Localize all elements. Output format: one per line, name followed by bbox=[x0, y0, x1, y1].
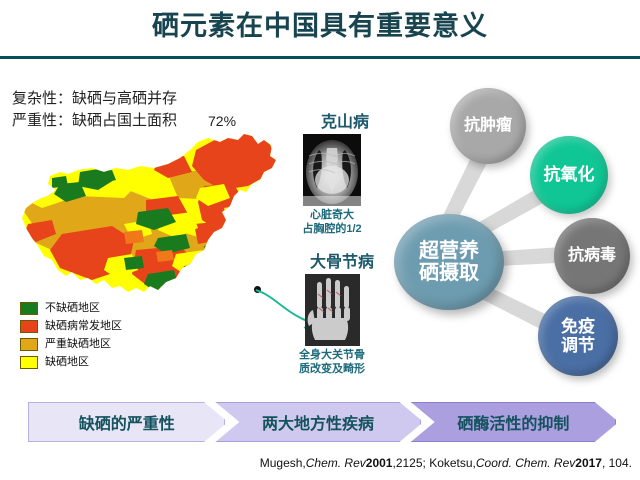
legend-item: 缺硒病常发地区 bbox=[20, 317, 122, 335]
intro-severity-label: 严重性：缺硒占国土面积 bbox=[12, 112, 177, 129]
center-node-line2: 硒摄取 bbox=[419, 262, 479, 284]
diagram-node-anti-tumor[interactable]: 抗肿瘤 bbox=[450, 88, 526, 164]
keshan-caption-line1: 心脏奇大 bbox=[272, 208, 392, 222]
china-selenium-distribution-map bbox=[8, 128, 288, 313]
citation-text: Mugesh,Chem. Rev2001,2125; Koketsu,Coord… bbox=[0, 456, 632, 470]
banner-step-1-label: 缺硒的严重性 bbox=[79, 410, 175, 434]
keshan-caption-line2: 占胸腔的1/2 bbox=[272, 222, 392, 236]
banner-step-1[interactable]: 缺硒的严重性 bbox=[28, 402, 225, 442]
diagram-node-antioxidant[interactable]: 抗氧化 bbox=[530, 136, 608, 214]
legend-swatch-severe-deficiency bbox=[20, 338, 38, 351]
citation-year-1: 2001 bbox=[366, 456, 393, 470]
legend-item: 缺硒地区 bbox=[20, 353, 122, 371]
legend-swatch-keshan-frequent bbox=[20, 320, 38, 333]
citation-journal-2: Coord. Chem. Rev bbox=[476, 456, 575, 470]
banner-step-2-label: 两大地方性疾病 bbox=[262, 410, 374, 434]
citation-author-2: Koketsu, bbox=[429, 456, 476, 470]
chest-xray-image bbox=[303, 134, 361, 206]
legend-item: 严重缺硒地区 bbox=[20, 335, 122, 353]
kashin-caption-line2: 质改变及畸形 bbox=[272, 362, 392, 376]
diagram-node-antiviral[interactable]: 抗病毒 bbox=[554, 218, 630, 294]
kashin-caption-line1: 全身大关节骨 bbox=[272, 348, 392, 362]
legend-item: 不缺硒地区 bbox=[20, 299, 122, 317]
legend-label-deficiency: 缺硒地区 bbox=[45, 353, 89, 371]
legend-swatch-no-deficiency bbox=[20, 302, 38, 315]
hand-xray-image bbox=[305, 274, 360, 346]
citation-author-1: Mugesh, bbox=[260, 456, 306, 470]
legend-swatch-deficiency bbox=[20, 356, 38, 369]
title-divider bbox=[0, 56, 640, 59]
legend-label-severe-deficiency: 严重缺硒地区 bbox=[45, 335, 111, 353]
slide-canvas: 硒元素在中国具有重要意义 复杂性：缺硒与高硒并存 严重性：缺硒占国土面积72% bbox=[0, 0, 640, 480]
intro-text-block: 复杂性：缺硒与高硒并存 严重性：缺硒占国土面积72% bbox=[12, 88, 282, 132]
citation-year-2: 2017 bbox=[575, 456, 602, 470]
node-label-antiviral: 抗病毒 bbox=[568, 247, 616, 265]
intro-line-complexity: 复杂性：缺硒与高硒并存 bbox=[12, 88, 282, 110]
center-node-line1: 超营养 bbox=[419, 240, 479, 262]
banner-step-2[interactable]: 两大地方性疾病 bbox=[215, 402, 420, 442]
node-label-anti-tumor: 抗肿瘤 bbox=[464, 117, 512, 135]
page-title: 硒元素在中国具有重要意义 bbox=[0, 6, 640, 46]
map-legend: 不缺硒地区 缺硒病常发地区 严重缺硒地区 缺硒地区 bbox=[20, 299, 122, 371]
node-label-immune-line1: 免疫 bbox=[561, 317, 595, 336]
citation-page-1: ,2125; bbox=[392, 456, 429, 470]
disease-title-kashin-beck: 大骨节病 bbox=[287, 248, 397, 272]
diagram-node-immune-regulation[interactable]: 免疫 调节 bbox=[538, 296, 618, 376]
citation-page-2: , 104. bbox=[602, 456, 632, 470]
node-label-antioxidant: 抗氧化 bbox=[544, 165, 595, 184]
disease-title-keshan: 克山病 bbox=[290, 108, 400, 132]
selenium-benefits-diagram: 超营养 硒摄取 抗肿瘤 抗氧化 抗病毒 免疫 调节 bbox=[392, 88, 640, 388]
banner-step-3-label: 硒酶活性的抑制 bbox=[457, 410, 569, 434]
legend-label-keshan-frequent: 缺硒病常发地区 bbox=[45, 317, 122, 335]
diagram-center-node[interactable]: 超营养 硒摄取 bbox=[394, 214, 504, 310]
citation-journal-1: Chem. Rev bbox=[306, 456, 366, 470]
disease-caption-kashin-beck: 全身大关节骨 质改变及畸形 bbox=[272, 348, 392, 376]
legend-label-no-deficiency: 不缺硒地区 bbox=[45, 299, 100, 317]
map-graphic bbox=[8, 128, 288, 313]
disease-caption-keshan: 心脏奇大 占胸腔的1/2 bbox=[272, 208, 392, 236]
process-banner: 缺硒的严重性 两大地方性疾病 硒酶活性的抑制 bbox=[28, 402, 616, 442]
node-label-immune-line2: 调节 bbox=[561, 336, 595, 355]
banner-step-3[interactable]: 硒酶活性的抑制 bbox=[411, 402, 616, 442]
